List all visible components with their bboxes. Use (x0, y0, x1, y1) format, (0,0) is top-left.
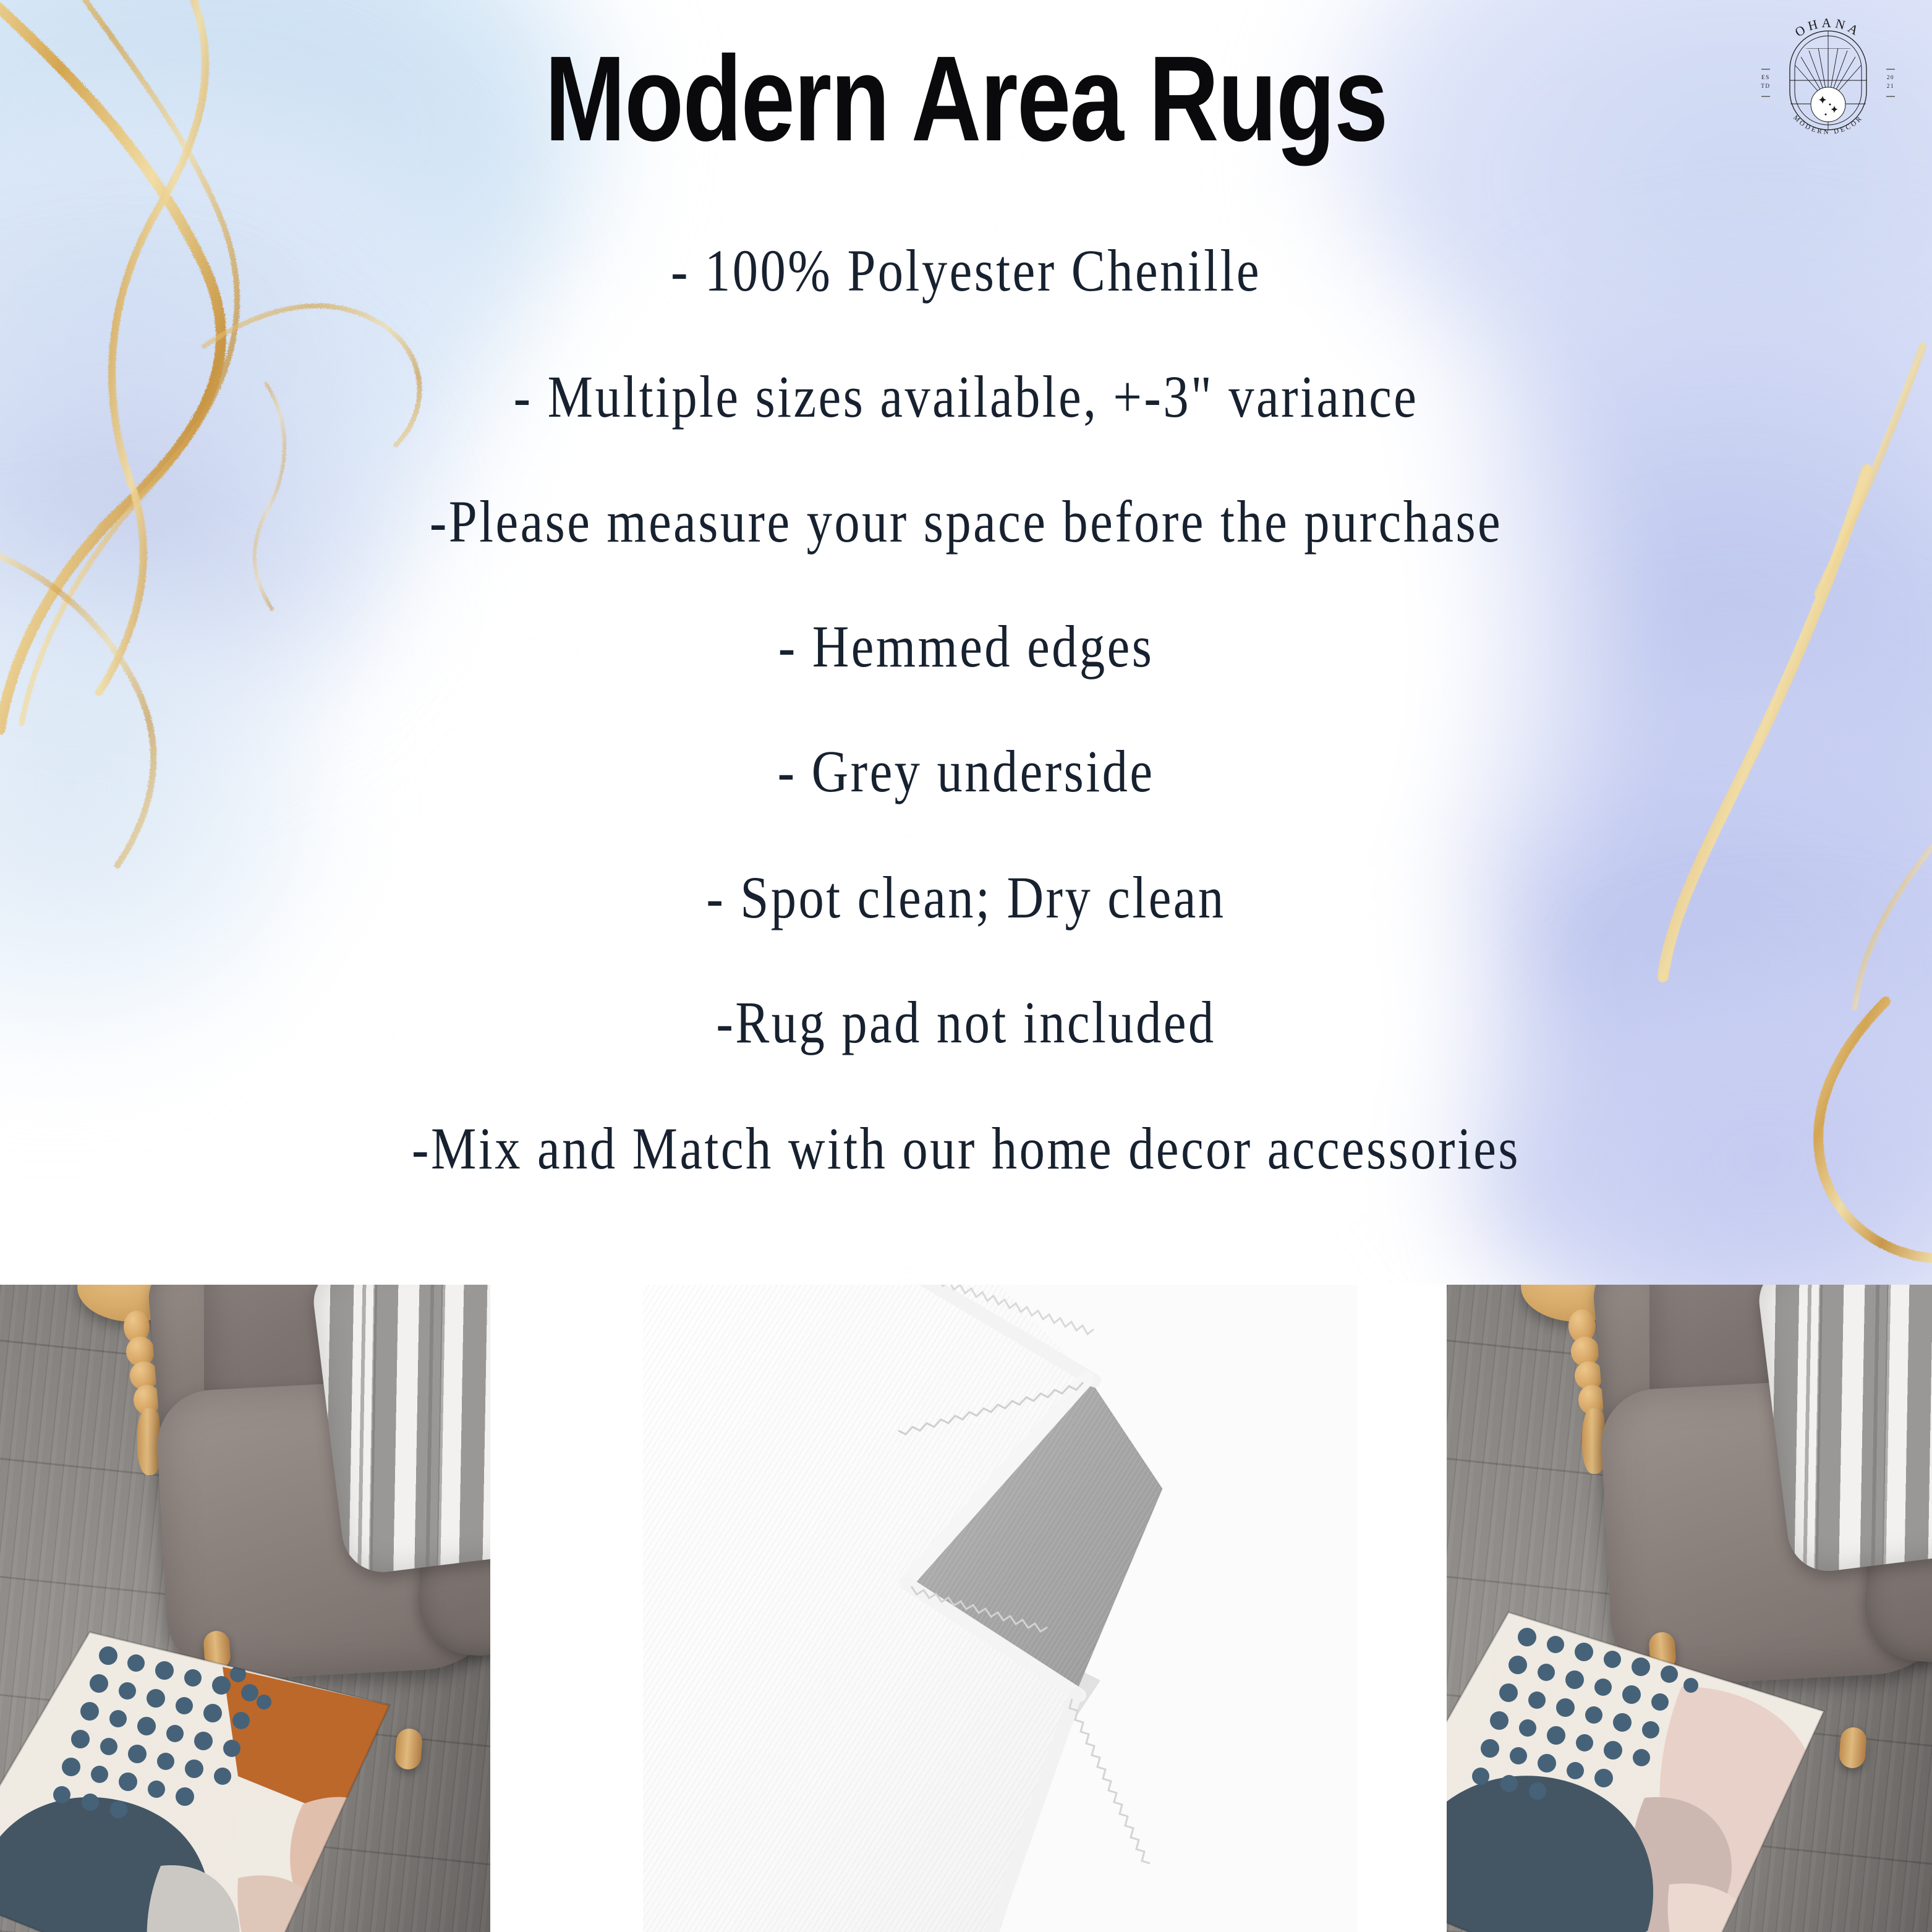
logo-moon-circle (1811, 87, 1845, 122)
product-photo-right (1447, 1285, 1932, 1932)
area-rug-blush (1447, 1594, 1932, 1932)
product-photo-middle (643, 1285, 1357, 1932)
feature-item: - Hemmed edges (135, 617, 1797, 676)
brand-logo: OHANA MODERN DECOR (1754, 9, 1902, 151)
logo-estd-top: ES (1761, 74, 1770, 80)
logo-estd-bottom: TD (1761, 83, 1770, 89)
folded-rug-diagram (643, 1285, 1357, 1932)
logo-year-bottom: 21 (1887, 83, 1894, 89)
feature-item: -Rug pad not included (135, 993, 1797, 1052)
room-scene-right (1447, 1285, 1932, 1932)
page-title: Modern Area Rugs (194, 38, 1739, 160)
feature-item: - Spot clean; Dry clean (135, 868, 1797, 927)
room-scene-left (0, 1285, 490, 1932)
logo-year-top: 20 (1887, 74, 1894, 80)
feature-item: - Grey underside (135, 742, 1797, 801)
feature-item: - 100% Polyester Chenille (135, 241, 1797, 300)
product-photo-left (0, 1285, 490, 1932)
feature-item: -Mix and Match with our home decor acces… (135, 1119, 1797, 1178)
ohana-logo-icon: OHANA MODERN DECOR (1754, 9, 1902, 151)
product-listing-image: Modern Area Rugs - 100% Polyester Chenil… (0, 0, 1932, 1932)
area-rug-terracotta (0, 1619, 490, 1932)
feature-item: - Multiple sizes available, +-3" varianc… (135, 367, 1797, 427)
feature-list: - 100% Polyester Chenille - Multiple siz… (0, 241, 1932, 1178)
rug-underside-scene (643, 1285, 1357, 1932)
feature-item: -Please measure your space before the pu… (135, 492, 1797, 551)
product-photo-strip (0, 1285, 1932, 1932)
